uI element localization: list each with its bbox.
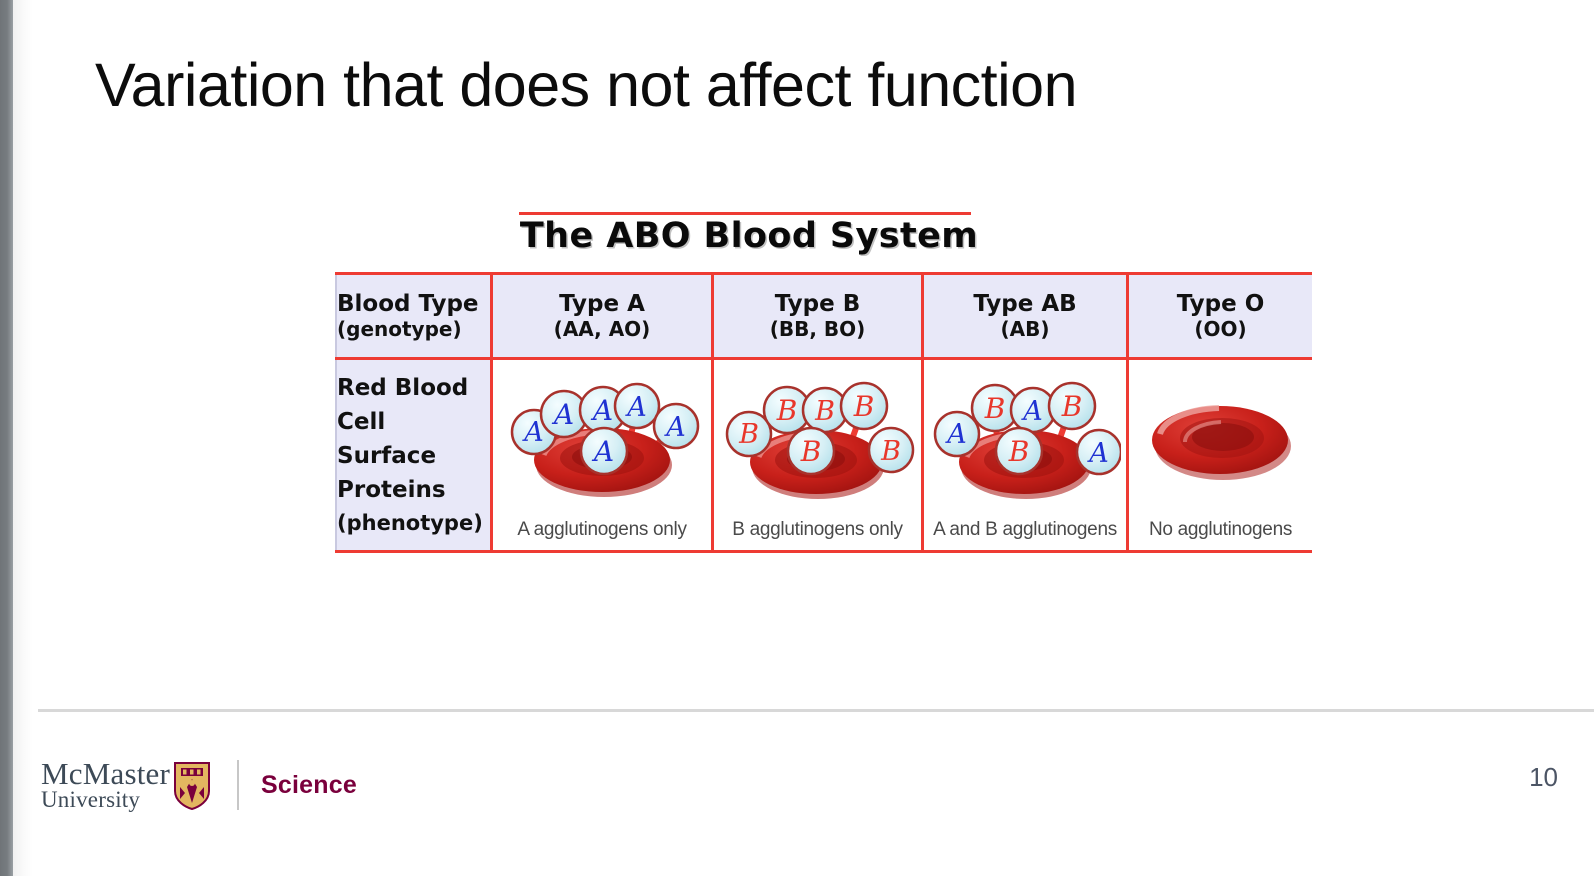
row-header-line2: (genotype) <box>337 317 490 341</box>
type-ab-cell-illustration: A B A B A <box>924 362 1126 514</box>
type-a-caption: A agglutinogens only <box>493 519 711 541</box>
faculty-name: Science <box>261 771 357 800</box>
mcmaster-wordmark: McMaster University <box>41 759 211 811</box>
cell-type-a: A A A A A <box>492 359 713 552</box>
svg-text:A: A <box>663 412 686 443</box>
svg-text:A: A <box>1020 396 1043 427</box>
svg-text:A: A <box>550 398 573 431</box>
figure-title: The ABO Blood System <box>269 216 1229 256</box>
type-ab-label: Type AB <box>924 291 1126 317</box>
svg-text:B: B <box>880 436 901 467</box>
row-header-line3: Red Blood <box>337 371 490 405</box>
svg-text:B: B <box>814 396 835 427</box>
type-o-label: Type O <box>1129 291 1312 317</box>
abo-table: Blood Type (genotype) Type A (AA, AO) Ty… <box>335 272 1312 553</box>
brand-lockup: McMaster University <box>41 755 357 815</box>
row-header-blood-type: Blood Type (genotype) <box>336 274 492 359</box>
wordmark-line2: University <box>41 789 170 811</box>
type-b-cell-illustration: B B B B B <box>714 362 921 514</box>
svg-text:B: B <box>1008 435 1030 468</box>
slide-canvas: Variation that does not affect function … <box>33 0 1594 876</box>
type-o-caption: No agglutinogens <box>1129 519 1312 541</box>
row-header-line1: Blood Type <box>337 291 490 317</box>
table-header-type-ab: Type AB (AB) <box>923 274 1128 359</box>
type-ab-caption: A and B agglutinogens <box>924 519 1126 541</box>
slide-viewer: Variation that does not affect function … <box>0 0 1594 876</box>
svg-text:B: B <box>853 390 875 423</box>
type-a-label: Type A <box>493 291 711 317</box>
table-body-row: Red Blood Cell Surface Proteins (phenoty… <box>336 359 1312 552</box>
viewer-left-gutter <box>0 0 13 876</box>
cell-type-o: No agglutinogens <box>1128 359 1313 552</box>
svg-text:A: A <box>590 435 613 468</box>
wordmark-line1: McMaster <box>41 759 170 789</box>
type-b-label: Type B <box>714 291 921 317</box>
type-ab-genotype: (AB) <box>924 317 1126 341</box>
page-title: Variation that does not affect function <box>95 52 1077 119</box>
table-header-type-b: Type B (BB, BO) <box>713 274 923 359</box>
svg-text:A: A <box>521 417 544 448</box>
page-number: 10 <box>1529 762 1558 793</box>
table-header-type-o: Type O (OO) <box>1128 274 1313 359</box>
row-header-line6: (phenotype) <box>337 508 490 539</box>
svg-text:B: B <box>1061 390 1083 423</box>
svg-text:B: B <box>738 419 759 450</box>
svg-text:A: A <box>589 394 612 427</box>
type-a-cell-illustration: A A A A A <box>493 362 711 514</box>
type-b-genotype: (BB, BO) <box>714 317 921 341</box>
table-header-type-a: Type A (AA, AO) <box>492 274 713 359</box>
row-header-line5: Proteins <box>337 473 490 507</box>
cell-type-ab: A B A B A <box>923 359 1128 552</box>
svg-text:A: A <box>944 419 967 450</box>
svg-text:A: A <box>624 392 647 423</box>
svg-text:B: B <box>776 394 798 427</box>
type-o-cell-illustration <box>1129 362 1312 514</box>
svg-text:B: B <box>984 392 1006 425</box>
row-header-line4: Cell Surface <box>337 405 490 473</box>
footer-divider <box>38 709 1594 712</box>
type-b-caption: B agglutinogens only <box>714 519 921 541</box>
type-a-genotype: (AA, AO) <box>493 317 711 341</box>
brand-divider <box>237 760 239 810</box>
svg-text:A: A <box>1086 438 1109 469</box>
viewer-gutter-edge <box>13 0 33 876</box>
svg-text:B: B <box>800 435 822 468</box>
type-o-genotype: (OO) <box>1129 317 1312 341</box>
cell-type-b: B B B B B <box>713 359 923 552</box>
mcmaster-crest-icon <box>173 761 211 814</box>
row-header-cell-surface-proteins: Red Blood Cell Surface Proteins (phenoty… <box>336 359 492 552</box>
table-header-row: Blood Type (genotype) Type A (AA, AO) Ty… <box>336 274 1312 359</box>
figure-top-rule <box>519 212 971 215</box>
